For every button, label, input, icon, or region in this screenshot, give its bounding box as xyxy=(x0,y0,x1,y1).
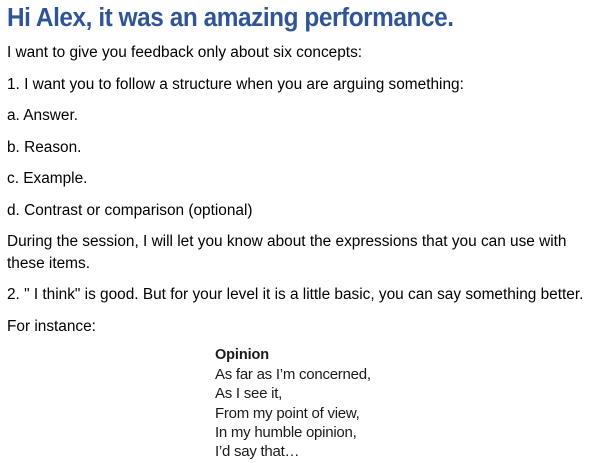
opinion-expressions-block: Opinion As far as I’m concerned, As I se… xyxy=(7,337,591,461)
paragraph-point-1: 1. I want you to follow a structure when… xyxy=(7,74,591,96)
page-title: Hi Alex, it was an amazing performance. xyxy=(7,0,565,33)
opinion-phrase: As far as I’m concerned, xyxy=(215,365,591,384)
paragraph-intro: I want to give you feedback only about s… xyxy=(7,42,591,64)
list-item-c: c. Example. xyxy=(7,168,591,190)
document-body: I want to give you feedback only about s… xyxy=(7,42,591,337)
paragraph-point-2: 2. " I think" is good. But for your leve… xyxy=(7,284,591,306)
opinion-phrase: I’d say that… xyxy=(215,442,591,461)
list-item-d: d. Contrast or comparison (optional) xyxy=(7,200,591,222)
opinion-heading: Opinion xyxy=(215,346,591,365)
opinion-phrase: From my point of view, xyxy=(215,404,591,423)
paragraph-session-note: During the session, I will let you know … xyxy=(7,231,591,274)
list-item-b: b. Reason. xyxy=(7,137,591,159)
list-item-a: a. Answer. xyxy=(7,105,591,127)
opinion-phrase: As I see it, xyxy=(215,384,591,403)
paragraph-for-instance: For instance: xyxy=(7,316,591,338)
opinion-phrase: In my humble opinion, xyxy=(215,423,591,442)
document-page: Hi Alex, it was an amazing performance. … xyxy=(0,0,605,463)
